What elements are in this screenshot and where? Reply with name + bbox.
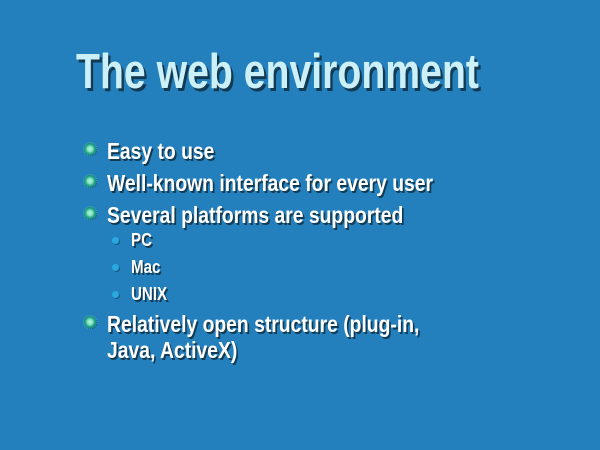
list-item: Mac	[0, 257, 600, 282]
list-item: UNIX	[0, 284, 600, 309]
bullet-text: Well-known interface for every user	[107, 170, 577, 196]
list-item: Several platforms are supported	[0, 202, 600, 232]
bullet-text: UNIX	[131, 284, 501, 305]
bullet-text: Several platforms are supported	[107, 202, 577, 228]
round-dot-bullet-icon	[112, 237, 119, 244]
ring-dot-bullet-icon	[84, 207, 96, 219]
round-dot-bullet-icon	[112, 291, 119, 298]
list-item: Relatively open structure (plug-in, Java…	[0, 311, 600, 367]
bullet-text: Relatively open structure (plug-in, Java…	[107, 311, 453, 363]
ring-dot-bullet-icon	[84, 316, 96, 328]
bullet-text: PC	[131, 230, 501, 251]
ring-dot-bullet-icon	[84, 175, 96, 187]
list-item: PC	[0, 230, 600, 255]
bullet-text: Easy to use	[107, 138, 577, 164]
slide-title: The web environment	[76, 46, 479, 98]
ring-dot-bullet-icon	[84, 143, 96, 155]
list-item: Well-known interface for every user	[0, 170, 600, 200]
list-item: Easy to use	[0, 138, 600, 168]
bullet-text: Mac	[131, 257, 501, 278]
round-dot-bullet-icon	[112, 264, 119, 271]
presentation-slide: The web environment Easy to use Well-kno…	[0, 0, 600, 450]
